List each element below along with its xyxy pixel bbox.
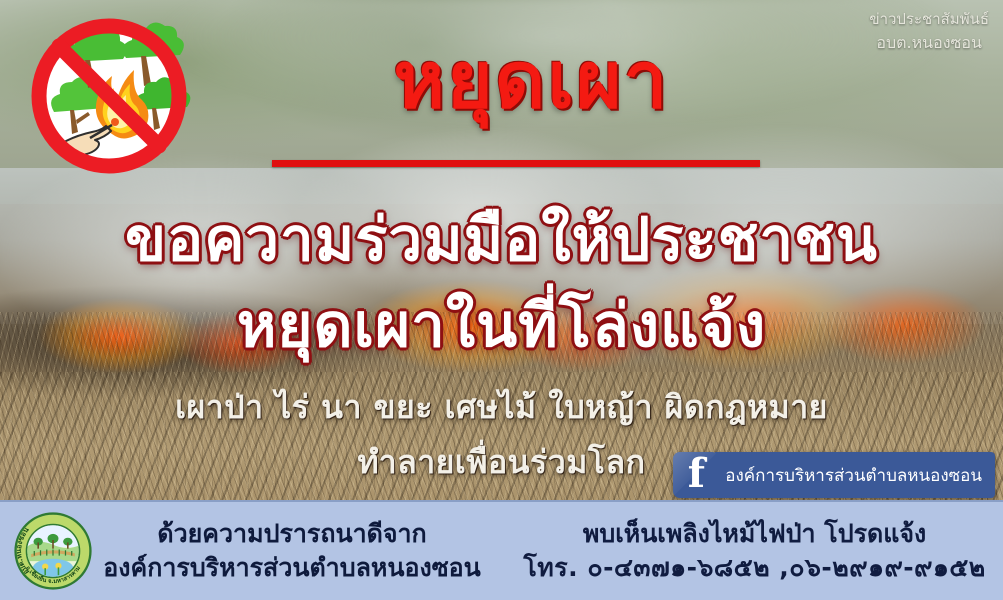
facebook-page-badge[interactable]: f องค์การบริหารส่วนตำบลหนองซอน — [673, 452, 995, 498]
no-burning-forest-icon — [18, 16, 200, 176]
footer-right-block: พบเห็นเพลิงไหม้ไฟป่า โปรดแจ้ง โทร. ๐-๔๓๗… — [512, 517, 1003, 585]
slogan-line-1: ขอความร่วมมือให้ประชาชน — [0, 192, 1003, 287]
fire-prevention-poster: ข่าวประชาสัมพันธ์ อบต.หนองซอน — [0, 0, 1003, 600]
title-divider — [272, 160, 760, 167]
agency-corner-note: ข่าวประชาสัมพันธ์ อบต.หนองซอน — [869, 8, 989, 55]
corner-note-line1: ข่าวประชาสัมพันธ์ — [869, 8, 989, 31]
footer-left-line1: ด้วยความปรารถนาดีจาก — [92, 517, 492, 551]
footer-bar: อบต.หนองซอน อ.เชียงยืน จ.มหาสารคาม ด้วยค… — [0, 500, 1003, 600]
footer-left-block: ด้วยความปรารถนาดีจาก องค์การบริหารส่วนตำ… — [92, 517, 512, 585]
facebook-f-icon[interactable]: f — [673, 452, 719, 498]
slogan-line-2: หยุดเผาในที่โล่งแจ้ง — [0, 278, 1003, 373]
facebook-page-name[interactable]: องค์การบริหารส่วนตำบลหนองซอน — [715, 452, 995, 498]
facebook-logo-glyph: f — [673, 454, 719, 494]
footer-left-line2: องค์การบริหารส่วนตำบลหนองซอน — [92, 551, 492, 585]
footer-phone-numbers[interactable]: โทร. ๐-๔๓๗๑-๖๘๕๒ ,๐๖-๒๙๑๙-๙๑๕๒ — [512, 551, 997, 585]
corner-note-line2: อบต.หนองซอน — [869, 31, 989, 55]
municipality-seal-icon: อบต.หนองซอน อ.เชียงยืน จ.มหาสารคาม — [14, 512, 92, 590]
footer-right-line1: พบเห็นเพลิงไหม้ไฟป่า โปรดแจ้ง — [512, 517, 997, 551]
subline-1: เผาป่า ไร่ นา ขยะ เศษไม้ ใบหญ้า ผิดกฎหมา… — [0, 382, 1003, 433]
